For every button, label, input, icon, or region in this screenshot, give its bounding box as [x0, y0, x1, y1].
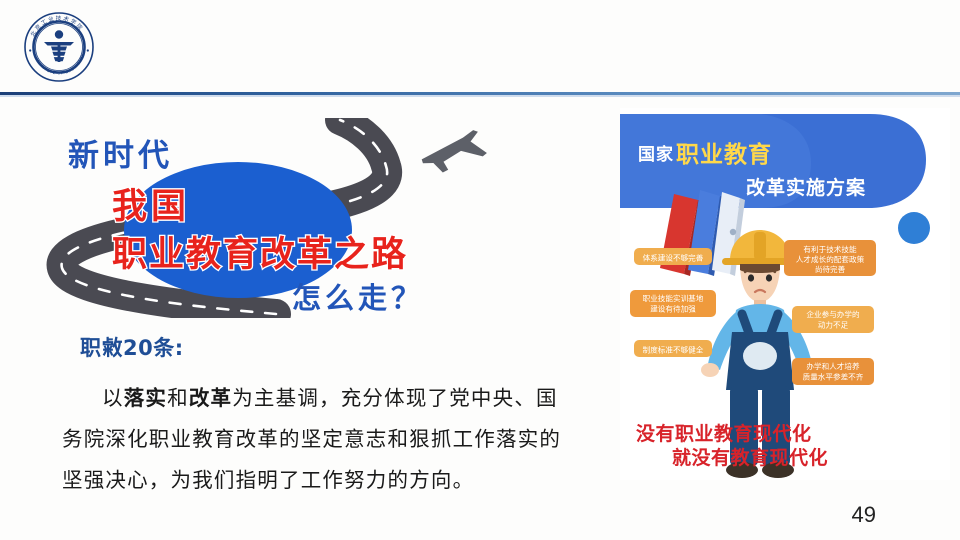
body-line-2: 务院深化职业教育改革的坚定意志和狠抓工作落实的 [62, 419, 602, 460]
svg-text:办学和人才培养: 办学和人才培养 [806, 361, 860, 371]
title-line-4: 怎么走？ [292, 281, 424, 315]
banner-text-white-1: 国家 [638, 144, 674, 165]
university-seal-logo: 北京工业技术学院 INSTITUTE OF ENGINEERING TECHNO… [22, 10, 96, 84]
svg-text:制度标准不够健全: 制度标准不够健全 [643, 345, 704, 355]
slogan-line-1: 没有职业教育现代化 [636, 422, 812, 445]
slide-header: 北京工业技术学院 INSTITUTE OF ENGINEERING TECHNO… [0, 0, 960, 92]
svg-text:质量水平参差不齐: 质量水平参差不齐 [803, 372, 864, 382]
svg-text:尚待完善: 尚待完善 [815, 264, 846, 274]
body-text-block: 职敹20条: 以落实和改革为主基调，充分体现了党中央、国 务院深化职业教育改革的… [62, 332, 602, 501]
header-divider-soft [0, 95, 960, 97]
svg-text:体系建设不够完善: 体系建设不够完善 [643, 253, 704, 263]
svg-text:企业参与办学的: 企业参与办学的 [806, 309, 860, 319]
left-content-column: 新时代 我国 职业教育改革之路 怎么走？ 职敹20条: 以落实和改革为主基调，充… [0, 100, 620, 530]
svg-text:人才成长的配套政策: 人才成长的配套政策 [796, 254, 865, 264]
svg-text:有利于技术技能: 有利于技术技能 [803, 244, 857, 254]
banner-text-white-2: 改革实施方案 [746, 176, 866, 199]
body-line-1: 以落实和改革为主基调，充分体现了党中央、国 [62, 378, 602, 419]
page-number: 49 [852, 502, 876, 528]
issue-label-left-1: 体系建设不够完善 [634, 248, 712, 265]
body-paragraph: 以落实和改革为主基调，充分体现了党中央、国 务院深化职业教育改革的坚定意志和狠抓… [62, 378, 602, 501]
svg-text:建设有待加强: 建设有待加强 [650, 304, 696, 314]
title-line-1: 新时代 [68, 138, 173, 174]
slogan-line-2: 就没有教育现代化 [672, 446, 828, 469]
body-line-3: 坚强决心，为我们指明了工作努力的方向。 [62, 460, 602, 501]
banner-text-yellow: 职业教育 [676, 141, 772, 168]
lead-label: 职敹20条: [80, 332, 602, 362]
slide-canvas: 北京工业技术学院 INSTITUTE OF ENGINEERING TECHNO… [0, 0, 960, 540]
svg-text:职业技能实训基地: 职业技能实训基地 [643, 293, 704, 303]
title-line-2: 我国 [112, 187, 190, 227]
title-line-3: 职业教育改革之路 [112, 235, 408, 275]
airplane-icon [418, 128, 488, 177]
issue-label-left-3: 制度标准不够健全 [634, 340, 712, 357]
title-illustration: 新时代 我国 职业教育改革之路 怎么走？ [40, 118, 560, 318]
infographic-image: 国家 职业教育 改革实施方案 [620, 108, 950, 480]
svg-text:动力不足: 动力不足 [818, 320, 849, 330]
